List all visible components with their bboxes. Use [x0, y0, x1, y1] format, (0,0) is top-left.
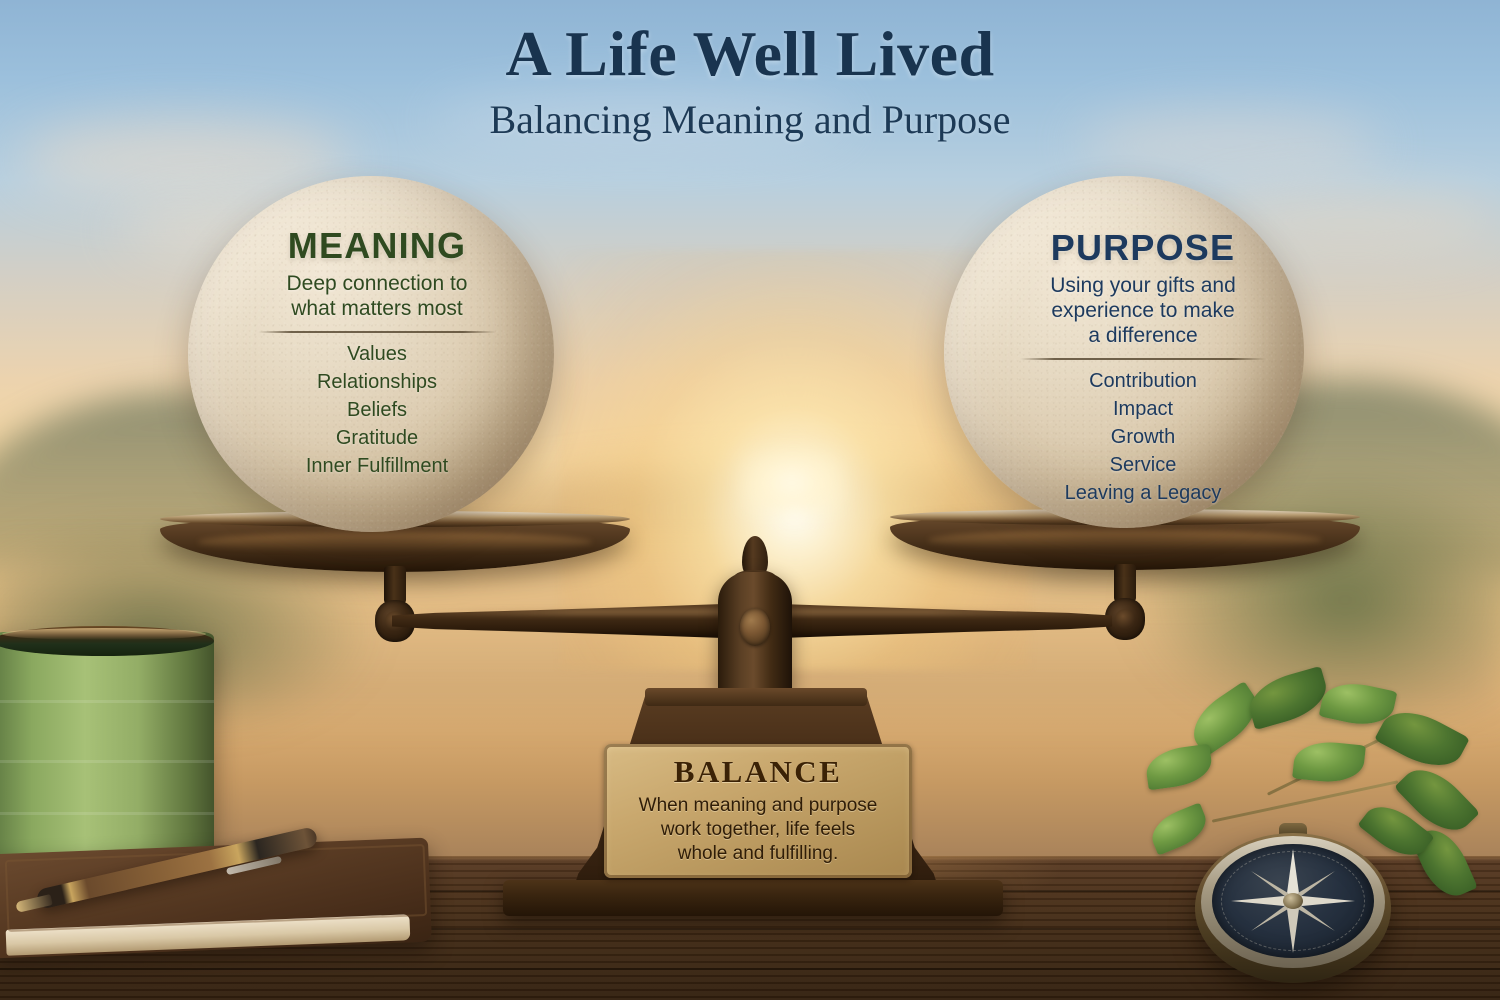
ceramic-mug [0, 632, 214, 864]
mug-rim-highlight [2, 628, 206, 640]
mug-ring [0, 700, 214, 703]
page-title: A Life Well Lived [0, 20, 1500, 88]
compass [1195, 833, 1391, 987]
mug-ring [0, 812, 214, 815]
mug-ring [0, 760, 214, 763]
compass-hub [1283, 893, 1303, 909]
meaning-stone [188, 176, 554, 532]
plaque-title: BALANCE [674, 756, 842, 787]
plaque-body: When meaning and purpose work together, … [639, 794, 878, 866]
illustration-canvas: A Life Well Lived Balancing Meaning and … [0, 0, 1500, 1000]
balance-plaque: BALANCE When meaning and purpose work to… [604, 744, 912, 878]
page-subtitle: Balancing Meaning and Purpose [0, 96, 1500, 143]
plaque-line-2: work together, life feels [639, 818, 878, 842]
plaque-line-1: When meaning and purpose [639, 794, 878, 818]
title-block: A Life Well Lived Balancing Meaning and … [0, 20, 1500, 143]
purpose-stone [944, 176, 1304, 528]
plaque-line-3: whole and fulfilling. [639, 842, 878, 866]
sun-icon [742, 452, 842, 514]
